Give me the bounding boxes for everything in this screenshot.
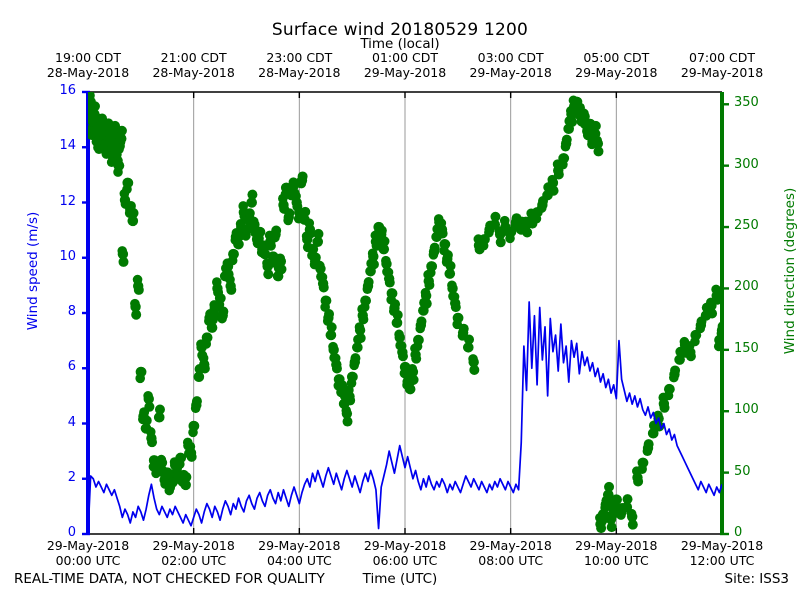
bottom-tick-time: 06:00 UTC <box>350 553 460 568</box>
scatter-point <box>413 342 423 352</box>
scatter-point <box>616 510 626 520</box>
right-tick-label: 250 <box>734 218 788 233</box>
scatter-point <box>147 437 157 447</box>
bottom-tick-date: 29-May-2018 <box>667 538 777 553</box>
right-tick-label: 350 <box>734 95 788 110</box>
scatter-point <box>532 214 542 224</box>
scatter-point <box>117 246 127 256</box>
scatter-point <box>463 343 473 353</box>
right-tick-label: 200 <box>734 279 788 294</box>
scatter-point <box>326 330 336 340</box>
scatter-point <box>398 351 408 361</box>
scatter-point <box>275 253 285 263</box>
bottom-tick-label: 29-May-201812:00 UTC <box>667 538 777 568</box>
top-tick-date: 29-May-2018 <box>350 65 460 80</box>
scatter-point <box>114 144 124 154</box>
top-tick-date: 29-May-2018 <box>456 65 566 80</box>
top-tick-date: 28-May-2018 <box>244 65 354 80</box>
scatter-point <box>405 384 415 394</box>
bottom-tick-label: 29-May-201806:00 UTC <box>350 538 460 568</box>
scatter-point <box>304 218 314 228</box>
bottom-tick-time: 02:00 UTC <box>139 553 249 568</box>
top-tick-label: 23:00 CDT28-May-2018 <box>244 50 354 80</box>
scatter-point <box>318 272 328 282</box>
scatter-point <box>369 259 379 269</box>
scatter-point <box>341 406 351 416</box>
scatter-point <box>426 268 436 278</box>
scatter-point <box>349 361 359 371</box>
scatter-point <box>664 391 674 401</box>
scatter-point <box>212 277 222 287</box>
top-tick-label: 07:00 CDT29-May-2018 <box>667 50 777 80</box>
scatter-point <box>607 522 617 532</box>
right-tick-label: 300 <box>734 157 788 172</box>
scatter-point <box>226 285 236 295</box>
scatter-point <box>505 234 515 244</box>
top-tick-time: 23:00 CDT <box>244 50 354 65</box>
scatter-point <box>297 179 307 189</box>
scatter-point <box>360 302 370 312</box>
top-tick-time: 19:00 CDT <box>33 50 143 65</box>
scatter-point <box>592 136 602 146</box>
scatter-point <box>146 427 156 437</box>
scatter-point <box>717 329 727 339</box>
scatter-point <box>537 203 547 213</box>
top-tick-time: 03:00 CDT <box>456 50 566 65</box>
right-tick-label: 100 <box>734 402 788 417</box>
scatter-point <box>468 354 478 364</box>
scatter-point <box>438 228 448 238</box>
scatter-point <box>207 323 217 333</box>
scatter-point <box>228 256 238 266</box>
scatter-point <box>276 264 286 274</box>
top-tick-date: 29-May-2018 <box>561 65 671 80</box>
scatter-point <box>496 237 506 247</box>
left-tick-label: 2 <box>22 470 76 485</box>
scatter-point <box>345 395 355 405</box>
bottom-tick-time: 10:00 UTC <box>561 553 671 568</box>
top-tick-label: 05:00 CDT29-May-2018 <box>561 50 671 80</box>
scatter-point <box>384 267 394 277</box>
left-tick-label: 14 <box>22 138 76 153</box>
bottom-tick-date: 29-May-2018 <box>244 538 354 553</box>
scatter-point <box>385 278 395 288</box>
scatter-point <box>394 330 404 340</box>
top-tick-time: 07:00 CDT <box>667 50 777 65</box>
scatter-point <box>186 442 196 452</box>
left-tick-label: 6 <box>22 359 76 374</box>
scatter-point <box>429 250 439 260</box>
scatter-point <box>233 239 243 249</box>
scatter-point <box>347 378 357 388</box>
scatter-point <box>411 354 421 364</box>
scatter-point <box>260 249 270 259</box>
scatter-point <box>127 216 137 226</box>
scatter-point <box>358 314 368 324</box>
scatter-point <box>603 490 613 500</box>
scatter-point <box>201 339 211 349</box>
scatter-point <box>188 428 198 438</box>
scatter-point <box>249 217 259 227</box>
scatter-point <box>116 134 126 144</box>
scatter-point <box>558 160 568 170</box>
bottom-tick-date: 29-May-2018 <box>350 538 460 553</box>
scatter-point <box>593 146 603 156</box>
scatter-point <box>522 227 532 237</box>
scatter-point <box>331 353 341 363</box>
scatter-point <box>669 373 679 383</box>
scatter-point <box>356 333 366 343</box>
scatter-point <box>695 324 705 334</box>
right-tick-label: 50 <box>734 464 788 479</box>
scatter-point <box>479 241 489 251</box>
bottom-tick-date: 29-May-2018 <box>33 538 143 553</box>
top-tick-date: 29-May-2018 <box>667 65 777 80</box>
scatter-point <box>225 275 235 285</box>
right-tick-label: 150 <box>734 341 788 356</box>
scatter-point <box>122 184 132 194</box>
scatter-point <box>133 275 143 285</box>
scatter-point <box>422 299 432 309</box>
bottom-tick-time: 12:00 UTC <box>667 553 777 568</box>
scatter-point <box>549 186 559 196</box>
scatter-point <box>409 375 419 385</box>
scatter-point <box>283 216 293 226</box>
bottom-tick-label: 29-May-201802:00 UTC <box>139 538 249 568</box>
scatter-point <box>144 402 154 412</box>
scatter-point <box>143 391 153 401</box>
top-tick-date: 28-May-2018 <box>139 65 249 80</box>
scatter-point <box>579 109 589 119</box>
scatter-point <box>343 417 353 427</box>
scatter-point <box>130 299 140 309</box>
scatter-point <box>712 295 722 305</box>
scatter-point <box>637 464 647 474</box>
bottom-tick-date: 29-May-2018 <box>139 538 249 553</box>
bottom-tick-label: 29-May-201810:00 UTC <box>561 538 671 568</box>
scatter-point <box>194 372 204 382</box>
scatter-point <box>381 256 391 266</box>
scatter-point <box>319 282 329 292</box>
scatter-point <box>119 257 129 267</box>
scatter-point <box>187 452 197 462</box>
top-tick-date: 28-May-2018 <box>33 65 143 80</box>
bottom-tick-time: 04:00 UTC <box>244 553 354 568</box>
scatter-point <box>241 231 251 241</box>
scatter-point <box>175 459 185 469</box>
scatter-point <box>451 302 461 312</box>
scatter-point <box>352 343 362 353</box>
scatter-point <box>131 310 141 320</box>
scatter-point <box>180 480 190 490</box>
scatter-point <box>363 284 373 294</box>
scatter-point <box>199 353 209 363</box>
scatter-point <box>660 403 670 413</box>
scatter-point <box>437 218 447 228</box>
scatter-point <box>113 167 123 177</box>
bottom-tick-time: 00:00 UTC <box>33 553 143 568</box>
scatter-point <box>554 170 564 180</box>
wind-chart-figure: Surface wind 20180529 1200 Time (local) … <box>0 0 800 600</box>
scatter-point <box>627 509 637 519</box>
scatter-point <box>246 198 256 208</box>
bottom-tick-date: 29-May-2018 <box>456 538 566 553</box>
scatter-point <box>686 351 696 361</box>
scatter-point <box>444 269 454 279</box>
scatter-point <box>415 324 425 334</box>
bottom-tick-time: 08:00 UTC <box>456 553 566 568</box>
scatter-point <box>628 520 638 530</box>
scatter-point <box>484 228 494 238</box>
scatter-point <box>690 337 700 347</box>
scatter-point <box>424 280 434 290</box>
scatter-point <box>392 318 402 328</box>
scatter-point <box>200 364 210 374</box>
top-tick-label: 19:00 CDT28-May-2018 <box>33 50 143 80</box>
left-tick-label: 10 <box>22 249 76 264</box>
scatter-point <box>469 365 479 375</box>
scatter-point <box>711 285 721 295</box>
bottom-tick-label: 29-May-201808:00 UTC <box>456 538 566 568</box>
scatter-point <box>633 476 643 486</box>
scatter-point <box>134 285 144 295</box>
scatter-point <box>561 142 571 152</box>
scatter-point <box>643 446 653 456</box>
scatter-point <box>567 117 577 127</box>
left-tick-label: 4 <box>22 415 76 430</box>
top-tick-time: 01:00 CDT <box>350 50 460 65</box>
scatter-point <box>450 292 460 302</box>
scatter-point <box>332 364 342 374</box>
scatter-point <box>154 413 164 423</box>
scatter-point <box>447 280 457 290</box>
scatter-point <box>191 403 201 413</box>
top-tick-label: 03:00 CDT29-May-2018 <box>456 50 566 80</box>
scatter-point <box>315 261 325 271</box>
scatter-point <box>500 216 510 226</box>
plot-canvas <box>0 0 800 600</box>
scatter-point <box>378 244 388 254</box>
left-tick-label: 8 <box>22 304 76 319</box>
bottom-tick-date: 29-May-2018 <box>561 538 671 553</box>
top-tick-label: 21:00 CDT28-May-2018 <box>139 50 249 80</box>
scatter-point <box>291 191 301 201</box>
top-tick-time: 05:00 CDT <box>561 50 671 65</box>
scatter-point <box>397 341 407 351</box>
scatter-point <box>135 374 145 384</box>
scatter-point <box>270 233 280 243</box>
bottom-tick-label: 29-May-201800:00 UTC <box>33 538 143 568</box>
left-tick-label: 16 <box>22 83 76 98</box>
scatter-point <box>157 455 167 465</box>
bottom-tick-label: 29-May-201804:00 UTC <box>244 538 354 568</box>
top-tick-label: 01:00 CDT29-May-2018 <box>350 50 460 80</box>
top-tick-time: 21:00 CDT <box>139 50 249 65</box>
left-tick-label: 0 <box>22 525 76 540</box>
scatter-point <box>217 314 227 324</box>
left-tick-label: 12 <box>22 194 76 209</box>
scatter-point <box>312 237 322 247</box>
scatter-point <box>407 364 417 374</box>
scatter-point <box>707 308 717 318</box>
right-tick-label: 0 <box>734 525 788 540</box>
scatter-point <box>328 342 338 352</box>
scatter-point <box>263 269 273 279</box>
